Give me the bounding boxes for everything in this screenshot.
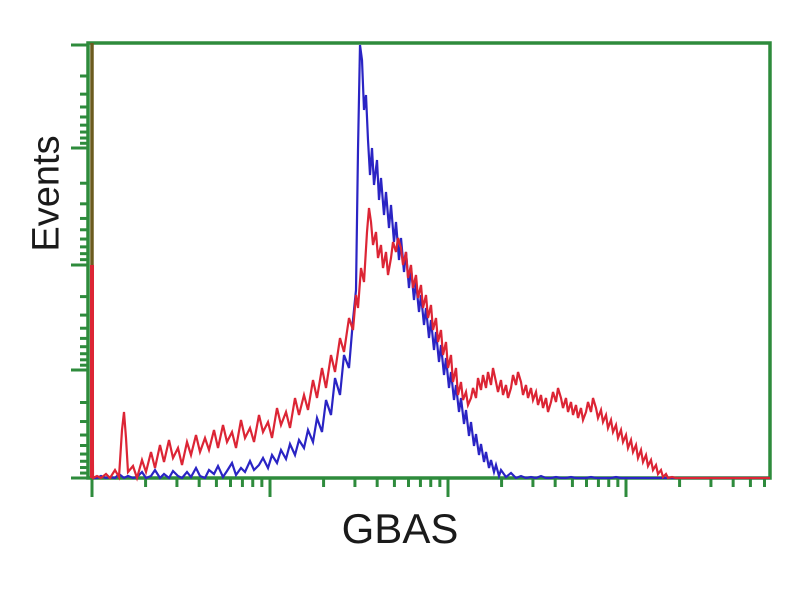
x-axis-title: GBAS: [0, 505, 800, 553]
y-axis-title: Events: [26, 109, 69, 279]
chart-root: Events GBAS: [0, 0, 800, 600]
flow-cytometry-histogram: Events GBAS: [0, 0, 800, 600]
